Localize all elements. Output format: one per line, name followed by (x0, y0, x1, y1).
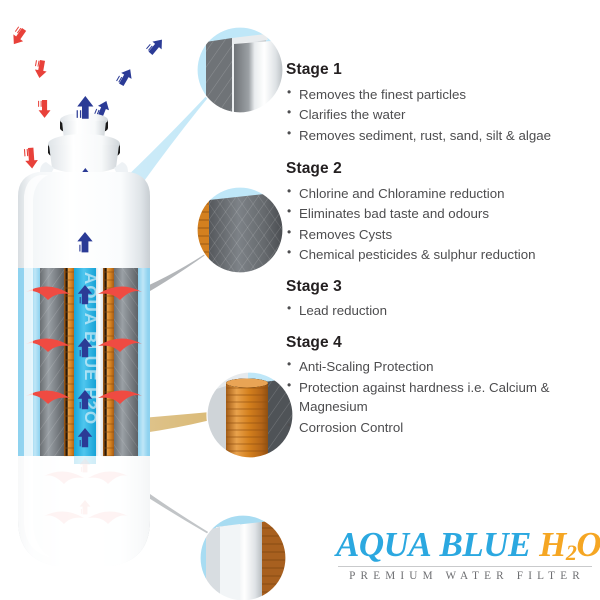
stage-4-bullet-2: Protection against hardness i.e. Calcium… (286, 378, 600, 417)
stage-1-bullets: Removes the finest particles Clarifies t… (286, 85, 600, 146)
flow-arrows-inlet (9, 26, 51, 169)
stage-4-bullet-1: Anti-Scaling Protection (286, 357, 600, 377)
callout-circle-stage-4 (207, 372, 293, 458)
stage-3-bullet-1: Lead reduction (286, 301, 600, 321)
stage-4-title: Stage 4 (286, 335, 600, 351)
logo-wordmark: AQUA BLUE H2O® (336, 527, 600, 564)
stage-2-bullet-3: Removes Cysts (286, 225, 600, 245)
logo-word-o: O (576, 525, 600, 564)
stage-block-4: Stage 4 Anti-Scaling Protection Protecti… (286, 335, 600, 438)
logo-divider (338, 566, 592, 567)
stage-2-title: Stage 2 (286, 161, 600, 177)
logo-word-subscript-2: 2 (566, 540, 577, 565)
flow-arrows-outlet (94, 36, 166, 120)
stage-2-bullets: Chlorine and Chloramine reduction Elimin… (286, 184, 600, 265)
stage-2-bullet-2: Eliminates bad taste and odours (286, 204, 600, 224)
stage-block-2: Stage 2 Chlorine and Chloramine reductio… (286, 161, 600, 265)
logo-word-blue: BLUE (440, 525, 531, 564)
stage-1-title: Stage 1 (286, 62, 600, 78)
callout-circle-bottom (200, 515, 286, 600)
stages-panel: Stage 1 Removes the finest particles Cla… (286, 62, 600, 448)
cartridge-body: AQUA BLUE H2O (18, 172, 150, 566)
logo-word-h: H (539, 525, 566, 564)
stage-3-title: Stage 3 (286, 279, 600, 295)
stage-4-bullets: Anti-Scaling Protection Protection again… (286, 357, 600, 437)
callout-circle-stage-2 (197, 187, 283, 273)
callout-circle-stage-1 (197, 27, 283, 113)
brand-logo: AQUA BLUE H2O® PREMIUM WATER FILTER (336, 527, 594, 582)
stage-1-bullet-2: Clarifies the water (286, 105, 600, 125)
logo-word-aqua: AQUA (336, 525, 431, 564)
stage-2-bullet-4: Chemical pesticides & sulphur reduction (286, 245, 600, 265)
stage-1-bullet-3: Removes sediment, rust, sand, silt & alg… (286, 126, 600, 146)
stage-4-bullet-3: Corrosion Control (286, 418, 600, 438)
stage-1-bullet-1: Removes the finest particles (286, 85, 600, 105)
stage-block-1: Stage 1 Removes the finest particles Cla… (286, 62, 600, 145)
stage-3-bullets: Lead reduction (286, 301, 600, 321)
stage-block-3: Stage 3 Lead reduction (286, 279, 600, 321)
logo-tagline: PREMIUM WATER FILTER (336, 570, 594, 582)
stage-2-bullet-1: Chlorine and Chloramine reduction (286, 184, 600, 204)
